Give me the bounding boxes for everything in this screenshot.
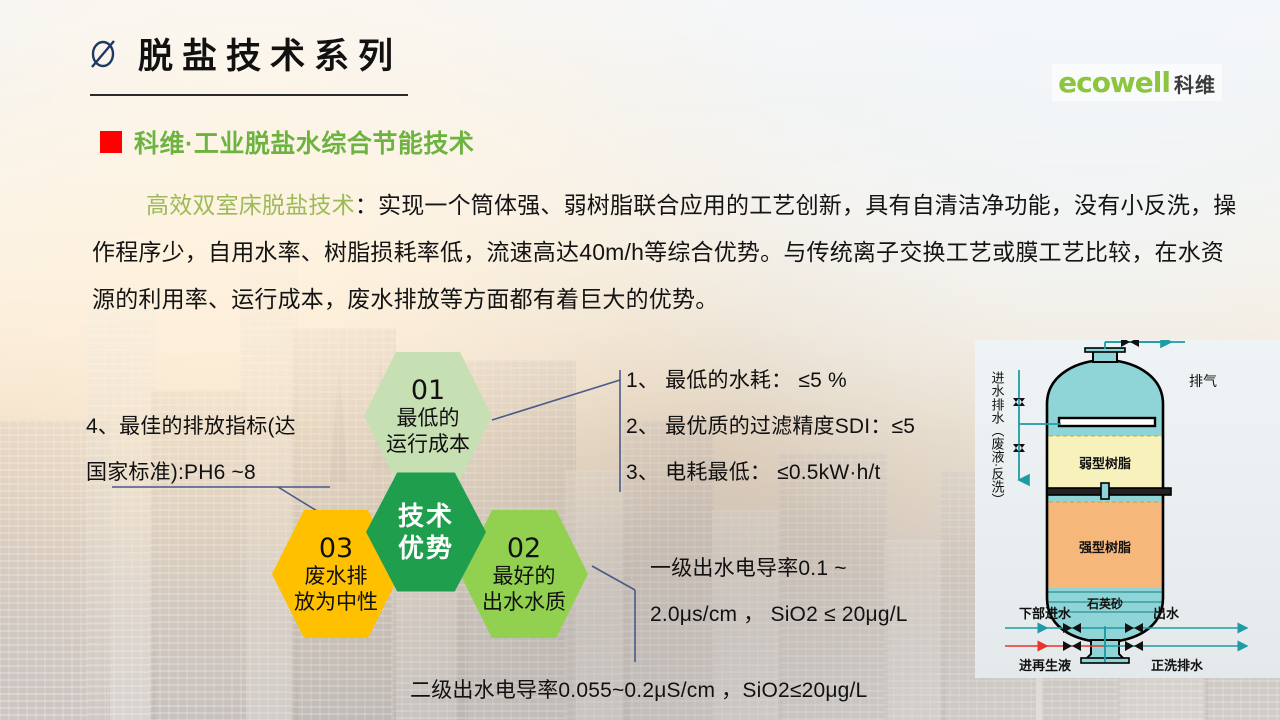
note-line: 2.0μs/cm ， SiO2 ≤ 20μg/L bbox=[650, 592, 980, 638]
note-right-top: 1、 最低的水耗： ≤5 % 2、 最优质的过滤精度SDI：≤5 3、 电耗最低… bbox=[626, 358, 966, 496]
hex-number: 03 bbox=[319, 533, 353, 564]
brand-logo: ecowell 科维 bbox=[1052, 64, 1222, 101]
hex-label-line2: 运行成本 bbox=[386, 432, 470, 458]
red-square-bullet-icon bbox=[100, 131, 122, 153]
slashed-zero-icon bbox=[88, 37, 118, 71]
vessel-process-diagram: 进水 排水（废液·反洗） 排气 弱型树脂 强型树脂 石英砂 下部进水 出水 进再… bbox=[975, 340, 1280, 678]
paragraph-line1-rest: ：实现一个筒体强、弱树脂联合应用的工艺创新，具有自清洁净功能， bbox=[355, 192, 1074, 218]
advantages-hex-cluster: 01 最低的 运行成本 02 最好的 出水水质 03 废水排 放为中性 技术 优… bbox=[272, 352, 632, 652]
label-regenerant: 进再生液 bbox=[1019, 658, 1071, 673]
note-line: 1、 最低的水耗： ≤5 % bbox=[626, 358, 966, 404]
logo-wordmark-cn: 科维 bbox=[1174, 69, 1216, 98]
hex-label-line1: 最低的 bbox=[397, 406, 460, 432]
label-quartz-sand: 石英砂 bbox=[1086, 596, 1123, 611]
label-weak-resin: 弱型树脂 bbox=[1079, 456, 1131, 471]
slide-root: 脱盐技术系列 ecowell 科维 科维·工业脱盐水综合节能技术 高效双室床脱盐… bbox=[0, 0, 1280, 720]
hex-label-line2: 放为中性 bbox=[294, 590, 378, 616]
label-bottom-inlet: 下部进水 bbox=[1019, 606, 1072, 621]
label-strong-resin: 强型树脂 bbox=[1079, 540, 1131, 555]
note-line: 二级出水电导率0.055~0.2μS/cm ，SiO2≤20μg/L bbox=[410, 668, 990, 714]
section-subtitle: 科维·工业脱盐水综合节能技术 bbox=[134, 124, 474, 160]
label-inlet: 进水 bbox=[990, 371, 1005, 397]
note-bottom: 二级出水电导率0.055~0.2μS/cm ，SiO2≤20μg/L bbox=[410, 668, 990, 714]
paragraph-highlight: 高效双室床脱盐技术 bbox=[146, 192, 355, 218]
body-paragraph: 高效双室床脱盐技术：实现一个筒体强、弱树脂联合应用的工艺创新，具有自清洁净功能，… bbox=[92, 182, 1240, 323]
hex-center-line1: 技术 bbox=[398, 500, 454, 532]
label-vent: 排气 bbox=[1189, 373, 1217, 389]
note-line: 一级出水电导率0.1 ~ bbox=[650, 546, 980, 592]
label-drain: 排水（废液·反洗） bbox=[990, 398, 1005, 506]
note-left: 4、最佳的排放指标(达 国家标准):PH6 ~8 bbox=[86, 404, 356, 496]
hex-label-line1: 废水排 bbox=[305, 564, 368, 590]
title-divider bbox=[90, 94, 408, 96]
hex-center-line2: 优势 bbox=[398, 532, 454, 564]
note-line: 2、 最优质的过滤精度SDI：≤5 bbox=[626, 404, 966, 450]
hex-label-line1: 最好的 bbox=[493, 564, 556, 590]
section-subtitle-row: 科维·工业脱盐水综合节能技术 bbox=[100, 124, 474, 160]
note-right-mid: 一级出水电导率0.1 ~ 2.0μs/cm ， SiO2 ≤ 20μg/L bbox=[650, 546, 980, 638]
note-line: 国家标准):PH6 ~8 bbox=[86, 450, 356, 496]
hex-number: 01 bbox=[411, 375, 445, 406]
note-line: 3、 电耗最低： ≤0.5kW·h/t bbox=[626, 450, 966, 496]
label-outlet: 出水 bbox=[1153, 606, 1180, 621]
hex-item-01[interactable]: 01 最低的 运行成本 bbox=[364, 352, 492, 480]
page-title: 脱盐技术系列 bbox=[138, 28, 402, 79]
hex-label-line2: 出水水质 bbox=[482, 590, 566, 616]
page-title-row: 脱盐技术系列 bbox=[88, 28, 402, 79]
logo-wordmark-en: ecowell bbox=[1058, 66, 1170, 99]
label-rinse-drain: 正洗排水 bbox=[1151, 658, 1204, 673]
note-line: 4、最佳的排放指标(达 bbox=[86, 404, 356, 450]
hex-number: 02 bbox=[507, 533, 541, 564]
